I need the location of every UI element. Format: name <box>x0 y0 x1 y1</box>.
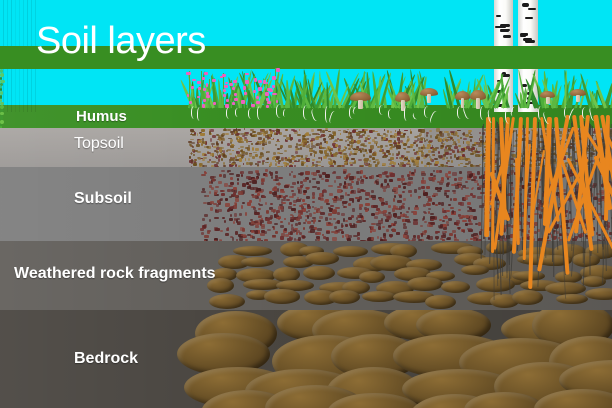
birch-bark-mark <box>495 26 505 28</box>
turf-clump <box>0 115 3 120</box>
flower-petal <box>254 78 257 82</box>
flower-petal <box>258 87 262 91</box>
flower-petal <box>269 89 273 92</box>
flower-petal <box>256 101 260 104</box>
layer-label-weathered: Weathered rock fragments <box>14 265 216 283</box>
flower-petal <box>225 82 228 85</box>
mushroom <box>420 88 438 103</box>
flower-petal <box>272 93 276 96</box>
flower-petal <box>229 83 234 87</box>
root-hair <box>197 107 204 121</box>
birch-bark-mark <box>528 8 536 10</box>
flower-petal <box>258 80 262 83</box>
mushroom-stem <box>576 95 580 103</box>
mushroom-stem <box>546 97 550 105</box>
page-title: Soil layers <box>36 19 206 63</box>
birch-bark-mark <box>522 3 529 6</box>
root-hair <box>542 111 553 125</box>
root-hair <box>487 108 497 123</box>
flower-petal <box>234 93 238 97</box>
flower-petal <box>202 77 206 80</box>
birch-bark-mark <box>520 35 526 37</box>
root-hair <box>412 111 422 121</box>
layer-label-humus: Humus <box>76 108 127 125</box>
layer-label-bedrock: Bedrock <box>74 350 138 368</box>
flower-petal <box>272 76 276 80</box>
birch-bark-mark <box>496 15 500 18</box>
root-hair <box>404 106 411 121</box>
flower-petal <box>223 89 226 92</box>
root-hair <box>235 108 242 117</box>
birch-bark-mark <box>503 35 512 38</box>
flower-petal <box>204 72 208 75</box>
flower-petal <box>266 105 269 108</box>
birch-bark-mark <box>525 17 533 19</box>
flower-petal <box>245 80 249 83</box>
flower-petal <box>276 68 279 72</box>
flower-petal <box>243 86 246 90</box>
root-hair <box>283 108 290 117</box>
soil-layers-illustration: Soil layers Humus Topsoil Subsoil Weathe… <box>0 0 612 408</box>
mushroom <box>540 91 555 104</box>
flower-petal <box>251 104 255 107</box>
flower-petal <box>198 87 202 90</box>
flower-petal <box>232 87 235 90</box>
flower-petal <box>191 86 194 89</box>
layer-label-subsoil: Subsoil <box>74 190 132 208</box>
flower-petal <box>241 100 245 104</box>
root-hair <box>589 107 598 122</box>
mushroom-stem <box>476 98 480 108</box>
flower-petal <box>244 92 248 95</box>
root-hair <box>510 106 520 117</box>
flower-petal <box>223 94 226 97</box>
root-hair <box>256 106 264 120</box>
flower-stem <box>209 79 210 108</box>
flower-petal <box>224 85 228 88</box>
layer-label-topsoil: Topsoil <box>74 135 124 153</box>
grass-blade <box>285 80 289 108</box>
flower-petal <box>186 72 190 75</box>
birch-bark-mark <box>525 40 536 43</box>
flower-petal <box>267 101 271 104</box>
birch-bark-mark <box>500 30 509 32</box>
flower-petal <box>256 96 259 99</box>
root-hair <box>387 109 396 119</box>
turf-clump <box>0 126 2 128</box>
grass-blade <box>192 87 195 108</box>
flower-petal <box>192 79 196 82</box>
mushroom-stem <box>427 94 431 102</box>
flower-petal <box>245 73 248 76</box>
root-hair <box>310 107 322 122</box>
grass-blade <box>218 81 221 108</box>
flower-petal <box>206 95 210 98</box>
flower-petal <box>212 79 216 82</box>
root-hair <box>248 108 256 120</box>
mushroom <box>570 89 586 102</box>
flower-petal <box>233 80 237 83</box>
root-hair <box>226 107 234 119</box>
flower-petal <box>265 92 269 96</box>
mushroom <box>455 91 470 108</box>
flower-petal <box>253 90 256 93</box>
